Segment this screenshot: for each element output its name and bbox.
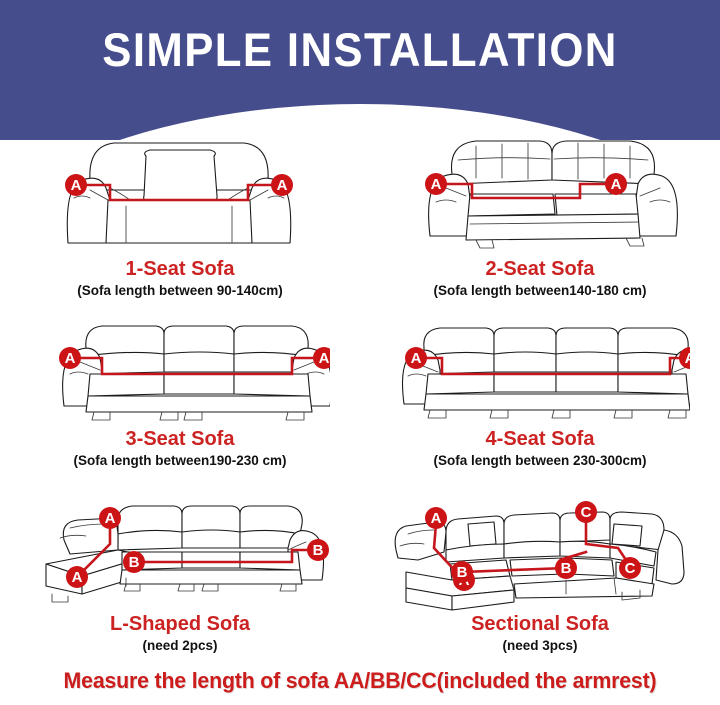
four-seat-title: 4-Seat Sofa (486, 428, 595, 450)
four-seat-subtitle: (Sofa length between 230-300cm) (433, 453, 646, 468)
badge-a-right-label: A (277, 177, 288, 194)
sectional-sofa-illustration: A A B B C C (390, 488, 690, 613)
badge-a-left-label: A (71, 177, 82, 194)
badge-a-left: A (65, 174, 87, 196)
badge-a-left: A (425, 173, 447, 195)
badge-a-top-label: A (105, 510, 116, 527)
one-seat-sofa-illustration: A A (30, 128, 330, 258)
three-seat-title: 3-Seat Sofa (126, 428, 235, 450)
badge-b-left: B (451, 561, 473, 583)
header-banner: SIMPLE INSTALLATION (0, 0, 720, 140)
footer-measure-note: Measure the length of sofa AA/BB/CC(incl… (11, 668, 709, 694)
badge-a-bottom: A (66, 566, 88, 588)
badge-b-right-label: B (313, 542, 324, 559)
four-seat-sofa-illustration: A A (390, 308, 690, 428)
badge-c-right: C (619, 557, 641, 579)
sofa-types-grid: A A 1-Seat Sofa (Sofa length between 90-… (0, 128, 720, 668)
badge-a-top: A (425, 507, 447, 529)
l-shaped-sofa-illustration: A A B B (30, 488, 330, 613)
three-seat-subtitle: (Sofa length between190-230 cm) (73, 453, 286, 468)
badge-a-right-label: A (685, 350, 690, 367)
badge-a-bottom-label: A (72, 569, 83, 586)
badge-a-right: A (271, 174, 293, 196)
l-shaped-subtitle: (need 2pcs) (142, 638, 217, 653)
sectional-title: Sectional Sofa (471, 613, 609, 635)
sofa-card-two-seat[interactable]: A A 2-Seat Sofa (Sofa length between140-… (360, 128, 720, 308)
badge-a-left-label: A (411, 350, 422, 367)
badge-a-right-label: A (319, 350, 330, 367)
one-seat-title: 1-Seat Sofa (126, 258, 235, 280)
badge-a-left-label: A (431, 176, 442, 193)
badge-a-right-label: A (611, 176, 622, 193)
l-shaped-title: L-Shaped Sofa (110, 613, 250, 635)
sofa-card-one-seat[interactable]: A A 1-Seat Sofa (Sofa length between 90-… (0, 128, 360, 308)
two-seat-subtitle: (Sofa length between140-180 cm) (433, 283, 646, 298)
one-seat-line-art (67, 143, 290, 243)
three-seat-sofa-illustration: A A (30, 308, 330, 428)
badge-a-top-label: A (431, 510, 442, 527)
sectional-subtitle: (need 3pcs) (502, 638, 577, 653)
two-seat-sofa-illustration: A A (390, 128, 690, 258)
badge-a-right: A (605, 173, 627, 195)
badge-b-right: B (555, 557, 577, 579)
sofa-card-l-shaped[interactable]: A A B B L-Shaped Sofa (need 2pcs) (0, 488, 360, 668)
l-shaped-line-art (46, 506, 324, 602)
badge-b-right: B (307, 539, 329, 561)
two-seat-line-art (429, 141, 678, 248)
sofa-card-three-seat[interactable]: A A 3-Seat Sofa (Sofa length between190-… (0, 308, 360, 488)
badge-b-left-label: B (457, 564, 468, 581)
badge-c-top-label: C (581, 504, 592, 521)
badge-c-right-label: C (625, 560, 636, 577)
badge-a-left-label: A (65, 350, 76, 367)
sofa-card-four-seat[interactable]: A A 4-Seat Sofa (Sofa length between 230… (360, 308, 720, 488)
badge-b-left: B (123, 551, 145, 573)
badge-b-right-label: B (561, 560, 572, 577)
badge-c-top: C (575, 501, 597, 523)
badge-a-top: A (99, 507, 121, 529)
badge-a-left: A (59, 347, 81, 369)
sofa-card-sectional[interactable]: A A B B C C Sectional Sofa (360, 488, 720, 668)
one-seat-subtitle: (Sofa length between 90-140cm) (77, 283, 283, 298)
two-seat-title: 2-Seat Sofa (486, 258, 595, 280)
page-title: SIMPLE INSTALLATION (25, 22, 695, 77)
badge-a-left: A (405, 347, 427, 369)
badge-b-left-label: B (129, 554, 140, 571)
